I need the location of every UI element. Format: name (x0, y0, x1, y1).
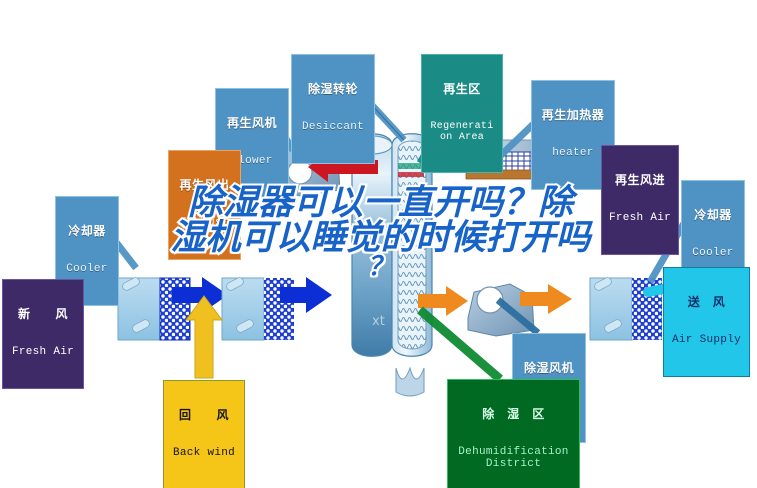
label-desiccant-rotor-en: Desiccant (297, 122, 369, 134)
label-fresh-air-inlet[interactable]: 新 风 Fresh Air (2, 279, 84, 389)
label-regeneration-heater-en: heater (537, 148, 609, 160)
label-cooler-left-upper-cn: 冷却器 (61, 225, 113, 238)
svg-text:xt: xt (372, 314, 385, 329)
cooler-coil-right (590, 276, 662, 340)
overlay-headline-line1: 除湿器可以一直开吗？除 (108, 186, 653, 221)
label-air-supply[interactable]: 送 风 Air Supply (663, 267, 750, 377)
label-dehumidification-district[interactable]: 除 湿 区 Dehumidification District (447, 379, 580, 488)
label-desiccant-rotor-cn: 除湿转轮 (297, 83, 369, 96)
label-air-supply-en: Air Supply (669, 335, 744, 347)
label-back-wind-cn: 回 风 (169, 409, 239, 422)
label-fresh-air-inlet-en: Fresh Air (8, 347, 78, 359)
label-back-wind-en: Back wind (169, 448, 239, 460)
label-regeneration-area[interactable]: 再生区 Regenerati on Area (421, 54, 503, 173)
label-dehumidification-district-en: Dehumidification District (453, 447, 574, 471)
label-dehumidification-blower-cn: 除湿风机 (518, 362, 580, 375)
label-regeneration-area-cn: 再生区 (427, 83, 497, 96)
label-cooler-left-upper-en: Cooler (61, 264, 113, 276)
dehumidification-blower-housing (468, 284, 534, 336)
back-wind-arrow (186, 296, 222, 378)
label-regeneration-blower-cn: 再生风机 (221, 117, 283, 130)
label-air-supply-cn: 送 风 (669, 296, 744, 309)
label-regeneration-fresh-air-cn: 再生风进 (607, 174, 673, 187)
label-cooler-right-en: Cooler (687, 248, 739, 260)
label-dehumidification-district-cn: 除 湿 区 (453, 408, 574, 421)
cooler-coil-left (118, 276, 190, 340)
label-cooler-right-cn: 冷却器 (687, 209, 739, 222)
label-back-wind[interactable]: 回 风 Back wind (163, 380, 245, 488)
overlay-headline: 除湿器可以一直开吗？除 湿机可以睡觉的时候打开吗 ？ (108, 186, 653, 281)
overlay-headline-line3: ？ (108, 255, 653, 281)
label-fresh-air-inlet-cn: 新 风 (8, 308, 78, 321)
label-regeneration-area-en: Regenerati on Area (427, 122, 497, 144)
label-regeneration-heater-cn: 再生加热器 (537, 109, 609, 122)
overlay-headline-line2: 湿机可以睡觉的时候打开吗 (108, 221, 653, 256)
cooler-coil-mid (222, 276, 294, 340)
label-desiccant-rotor[interactable]: 除湿转轮 Desiccant (291, 54, 375, 164)
diagram-canvas: xt (0, 0, 757, 488)
